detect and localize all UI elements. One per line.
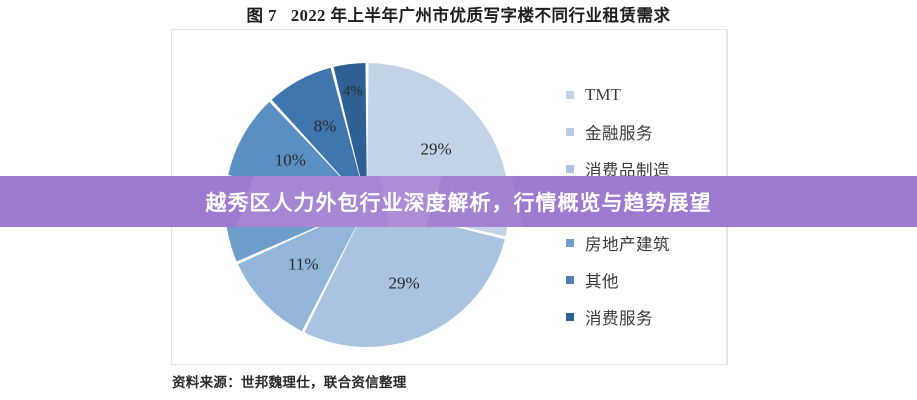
legend-item-label: 消费服务 — [585, 305, 653, 329]
overlay-banner: 越秀区人力外包行业深度解析，行情概览与趋势展望 — [0, 176, 917, 227]
pie-slice-value-label: 8% — [314, 117, 337, 136]
legend-item-label: 金融服务 — [585, 120, 653, 144]
legend-swatch-icon — [566, 128, 574, 136]
legend-swatch-icon — [566, 91, 574, 99]
pie-slice-value-label: 10% — [275, 151, 306, 170]
legend-item[interactable]: TMT — [566, 76, 716, 113]
pie-slice-value-label: 29% — [421, 139, 452, 158]
legend-item[interactable]: 房地产建筑 — [566, 224, 716, 261]
legend-item[interactable]: 消费服务 — [566, 298, 716, 335]
legend-swatch-icon — [566, 165, 574, 173]
pie-slice-value-label: 4% — [343, 84, 363, 100]
legend-swatch-icon — [566, 276, 574, 284]
legend-item[interactable]: 金融服务 — [566, 113, 716, 150]
figure-title-text: 2022 年上半年广州市优质写字楼不同行业租赁需求 — [291, 6, 671, 25]
legend-swatch-icon — [566, 239, 574, 247]
screenshot-root: 图 72022 年上半年广州市优质写字楼不同行业租赁需求 29%29%11%10… — [0, 0, 917, 400]
legend-item-label: 其他 — [585, 268, 619, 292]
pie-slice-value-label: 29% — [389, 274, 420, 293]
pie-slice-value-label: 11% — [288, 255, 319, 274]
legend-item-label: TMT — [585, 85, 621, 105]
figure-title: 图 72022 年上半年广州市优质写字楼不同行业租赁需求 — [0, 2, 917, 26]
legend-item-label: 房地产建筑 — [585, 231, 670, 255]
legend-swatch-icon — [566, 313, 574, 321]
figure-number: 图 7 — [247, 6, 277, 25]
overlay-banner-text: 越秀区人力外包行业深度解析，行情概览与趋势展望 — [206, 187, 712, 217]
source-note: 资料来源：世邦魏理仕，联合资信整理 — [172, 371, 407, 391]
legend-item[interactable]: 其他 — [566, 261, 716, 298]
